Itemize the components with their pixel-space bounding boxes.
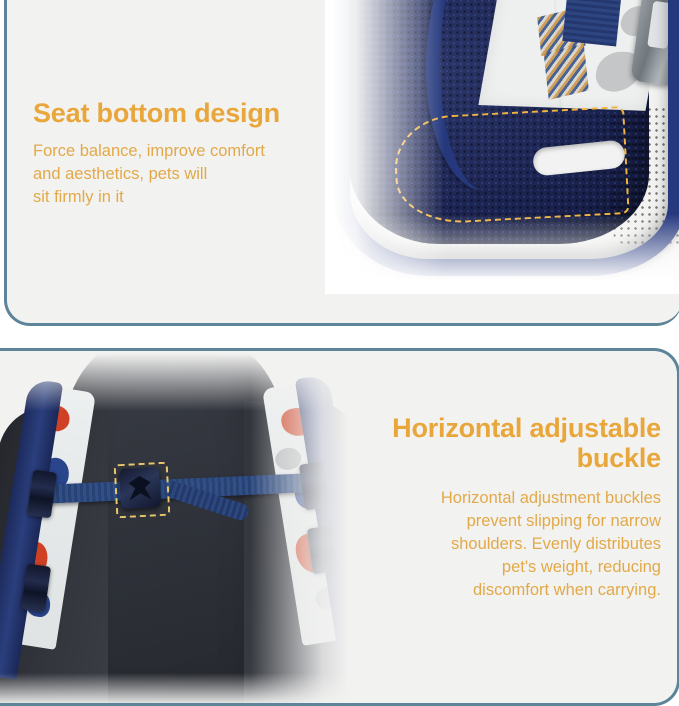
- pet-carrier-seat-bottom-photo: [325, 0, 679, 294]
- feature-panels-page: Seat bottom design Force balance, improv…: [0, 0, 679, 679]
- panel-bottom-inner: Horizontal adjustable buckle Horizontal …: [0, 351, 677, 703]
- seat-bottom-body-line-2: and aesthetics, pets will: [33, 163, 353, 186]
- buckle-body: Horizontal adjustment buckles prevent sl…: [361, 487, 661, 601]
- buckle-text-block: Horizontal adjustable buckle Horizontal …: [361, 413, 661, 601]
- buckle-annotation-outline: [114, 462, 171, 519]
- panel-horizontal-adjustable-buckle: Horizontal adjustable buckle Horizontal …: [0, 348, 679, 706]
- seat-bottom-body-line-3: sit firmly in it: [33, 186, 353, 209]
- buckle-body-line-5: discomfort when carrying.: [361, 579, 661, 602]
- seat-bottom-annotation-outline: [392, 106, 629, 226]
- buckle-heading-line-2: adjustable buckle: [529, 413, 661, 473]
- seat-bottom-text-block: Seat bottom design Force balance, improv…: [33, 98, 353, 209]
- buckle-body-line-4: pet's weight, reducing: [361, 556, 661, 579]
- seat-bottom-body-line-1: Force balance, improve comfort: [33, 140, 353, 163]
- buckle-body-line-1: Horizontal adjustment buckles: [361, 487, 661, 510]
- seat-bottom-heading: Seat bottom design: [33, 98, 353, 128]
- panel-top-inner: Seat bottom design Force balance, improv…: [7, 0, 679, 323]
- buckle-body-line-3: shoulders. Evenly distributes: [361, 533, 661, 556]
- buckle-body-line-2: prevent slipping for narrow: [361, 510, 661, 533]
- panel-seat-bottom-design: Seat bottom design Force balance, improv…: [4, 0, 679, 326]
- person-wearing-backpack-photo: [0, 351, 360, 703]
- seat-bottom-body: Force balance, improve comfort and aesth…: [33, 140, 353, 208]
- buckle-heading: Horizontal adjustable buckle: [361, 413, 661, 473]
- buckle-heading-line-1: Horizontal: [392, 413, 522, 443]
